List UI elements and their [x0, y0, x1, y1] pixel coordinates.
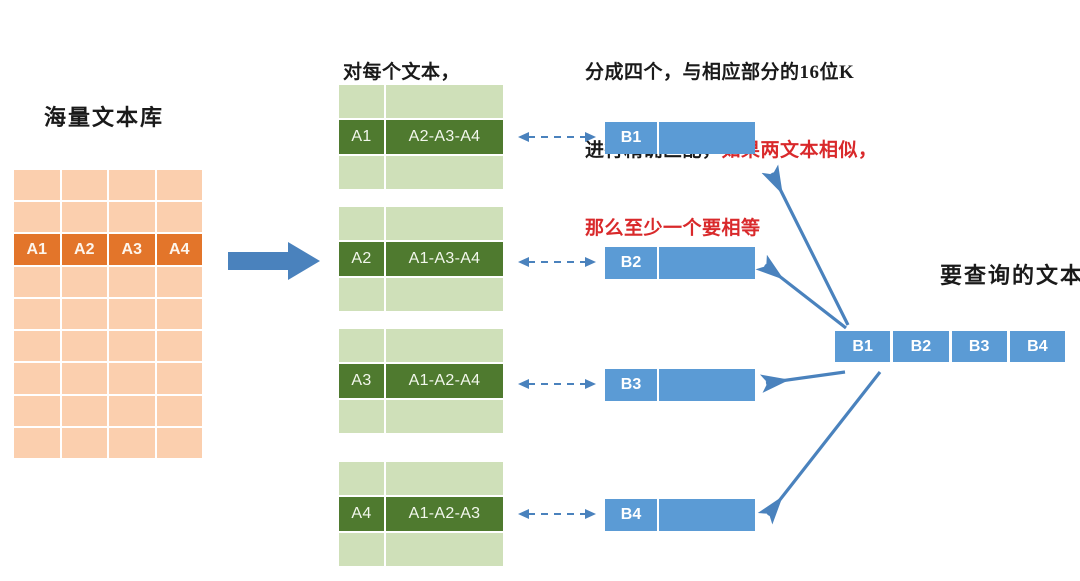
- corpus-cell: [109, 396, 155, 426]
- corpus-cell: [157, 202, 203, 232]
- green-pad-cell: [386, 400, 503, 433]
- corpus-cell: [14, 396, 60, 426]
- corpus-cell: [157, 299, 203, 329]
- corpus-cell: [109, 363, 155, 393]
- green-pad-cell: [386, 85, 503, 118]
- corpus-cell: [157, 267, 203, 297]
- corpus-cell: [109, 170, 155, 200]
- hash-bucket-body-1: [659, 122, 755, 154]
- query-segment-b4: B4: [1010, 331, 1065, 362]
- green-pad-cell: [386, 329, 503, 362]
- corpus-highlight-cell-a1: A1: [14, 234, 60, 264]
- green-pad-cell: [386, 462, 503, 495]
- match-arrow-icon-4: [518, 506, 596, 522]
- corpus-cell: [62, 170, 108, 200]
- corpus-cell: [14, 170, 60, 200]
- corpus-cell: [62, 396, 108, 426]
- green-rest-cell-4: A1-A2-A3: [386, 497, 503, 531]
- query-segment-b2: B2: [893, 331, 948, 362]
- stored-doc-block-1: A1 A2-A3-A4: [339, 85, 503, 189]
- hash-bucket-body-3: [659, 369, 755, 401]
- hash-bucket-label-3: B3: [605, 369, 657, 401]
- green-key-cell-2: A2: [339, 242, 384, 276]
- query-text-bar: B1 B2 B3 B4: [835, 331, 1065, 362]
- stored-doc-block-3: A3 A1-A2-A4: [339, 329, 503, 433]
- note-match-line-3-red: 那么至少一个要相等: [585, 216, 878, 242]
- corpus-cell: [157, 428, 203, 458]
- hash-bucket-label-1: B1: [605, 122, 657, 154]
- connector-arrow-b4: [768, 372, 880, 515]
- corpus-cell: [62, 299, 108, 329]
- green-rest-cell-1: A2-A3-A4: [386, 120, 503, 154]
- corpus-cell: [14, 202, 60, 232]
- corpus-cell: [109, 331, 155, 361]
- hash-bucket-block-1: B1: [605, 122, 755, 154]
- diagram-canvas: 对每个文本， 都分成4段存储 分成四个，与相应部分的16位K 进行精确匹配，如果…: [0, 0, 1080, 581]
- corpus-cell: [109, 202, 155, 232]
- match-arrow-icon-3: [518, 376, 596, 392]
- corpus-cell: [157, 331, 203, 361]
- corpus-cell: [62, 202, 108, 232]
- page-title-query: 要查询的文本: [940, 258, 1080, 290]
- corpus-cell: [157, 396, 203, 426]
- green-rest-cell-3: A1-A2-A4: [386, 364, 503, 398]
- green-pad-cell: [386, 207, 503, 240]
- corpus-cell: [157, 170, 203, 200]
- hash-bucket-label-2: B2: [605, 247, 657, 279]
- corpus-cell: [109, 299, 155, 329]
- corpus-cell: [14, 267, 60, 297]
- corpus-cell: [14, 299, 60, 329]
- corpus-cell: [14, 428, 60, 458]
- corpus-highlight-cell-a4: A4: [157, 234, 203, 264]
- corpus-grid: A1 A2 A3 A4: [14, 170, 202, 458]
- corpus-cell: [62, 428, 108, 458]
- corpus-cell: [62, 331, 108, 361]
- green-pad-cell: [339, 533, 384, 566]
- green-key-cell-3: A3: [339, 364, 384, 398]
- hash-bucket-body-4: [659, 499, 755, 531]
- corpus-highlight-cell-a2: A2: [62, 234, 108, 264]
- stored-doc-block-4: A4 A1-A2-A3: [339, 462, 503, 566]
- match-arrow-icon-2: [518, 254, 596, 270]
- green-pad-cell: [339, 156, 384, 189]
- hash-bucket-label-4: B4: [605, 499, 657, 531]
- connector-arrow-b3: [766, 372, 845, 383]
- green-pad-cell: [339, 85, 384, 118]
- query-segment-b3: B3: [952, 331, 1007, 362]
- hash-bucket-block-3: B3: [605, 369, 755, 401]
- green-key-cell-1: A1: [339, 120, 384, 154]
- green-pad-cell: [339, 462, 384, 495]
- green-pad-cell: [339, 400, 384, 433]
- corpus-cell: [109, 428, 155, 458]
- green-key-cell-4: A4: [339, 497, 384, 531]
- note-split-line-1: 对每个文本，: [343, 60, 470, 86]
- page-title-corpus: 海量文本库: [44, 100, 164, 132]
- transform-arrow-icon: [228, 240, 320, 282]
- match-arrow-icon-1: [518, 129, 596, 145]
- corpus-highlight-cell-a3: A3: [109, 234, 155, 264]
- hash-bucket-block-4: B4: [605, 499, 755, 531]
- corpus-cell: [62, 267, 108, 297]
- corpus-cell: [14, 363, 60, 393]
- stored-doc-block-2: A2 A1-A3-A4: [339, 207, 503, 311]
- green-pad-cell: [339, 329, 384, 362]
- corpus-cell: [14, 331, 60, 361]
- corpus-cell: [62, 363, 108, 393]
- hash-bucket-block-2: B2: [605, 247, 755, 279]
- hash-bucket-body-2: [659, 247, 755, 279]
- green-pad-cell: [386, 533, 503, 566]
- green-pad-cell: [386, 156, 503, 189]
- green-pad-cell: [386, 278, 503, 311]
- corpus-cell: [157, 363, 203, 393]
- corpus-cell: [109, 267, 155, 297]
- note-match-line-1: 分成四个，与相应部分的16位K: [585, 60, 878, 86]
- green-pad-cell: [339, 278, 384, 311]
- green-pad-cell: [339, 207, 384, 240]
- query-segment-b1: B1: [835, 331, 890, 362]
- green-rest-cell-2: A1-A3-A4: [386, 242, 503, 276]
